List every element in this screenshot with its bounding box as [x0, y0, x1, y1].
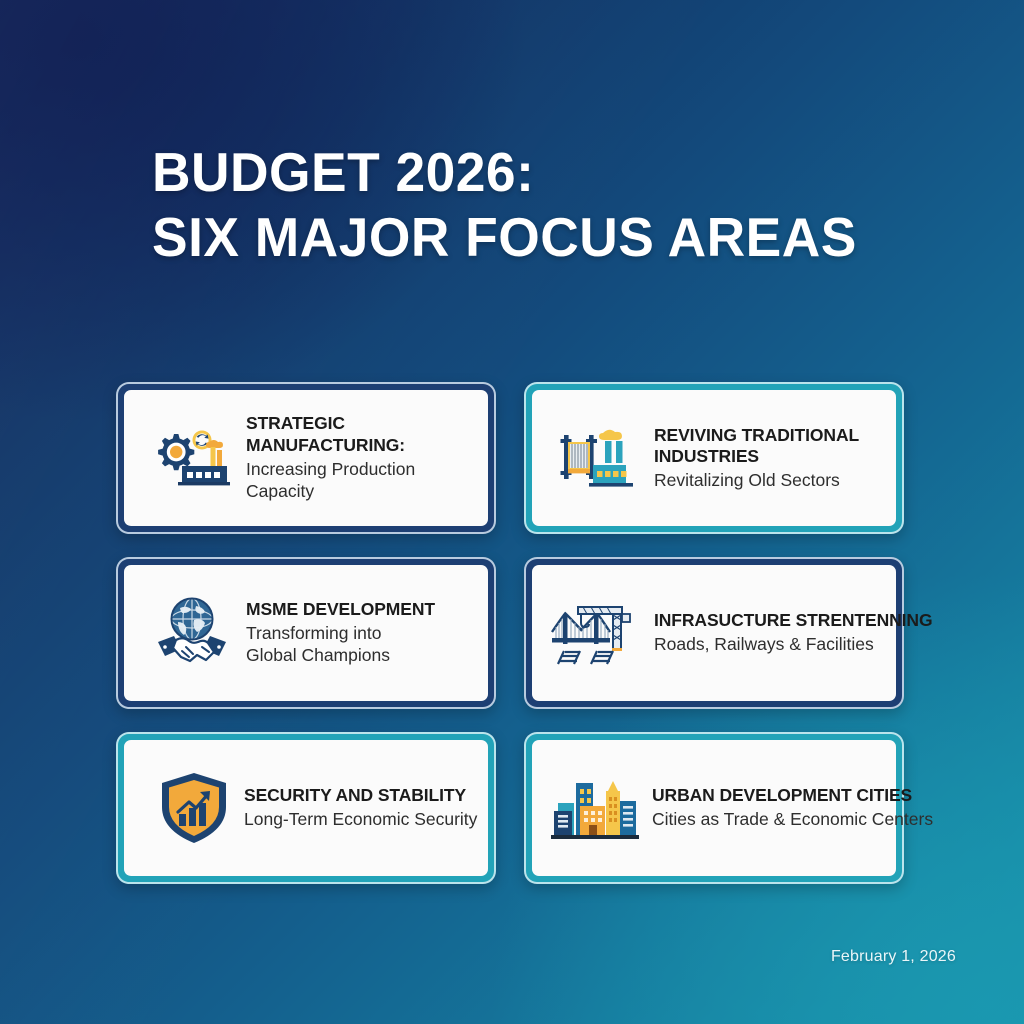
- title-line-2: SIX MAJOR FOCUS AREAS: [152, 205, 909, 270]
- card-subtitle: Revitalizing Old Sectors: [654, 469, 886, 491]
- page-title: BUDGET 2026: SIX MAJOR FOCUS AREAS: [152, 140, 932, 270]
- focus-area-card-grid: STRATEGIC MANUFACTURING: Increasing Prod…: [116, 382, 914, 884]
- card-title: INFRASUCTURE STRENTENNING: [654, 610, 886, 632]
- card-subtitle: Cities as Trade & Economic Centers: [652, 808, 886, 830]
- card-title: URBAN DEVELOPMENT CITIES: [652, 785, 886, 807]
- bridge-crane-rail-icon: [550, 591, 642, 675]
- card-title: SECURITY AND STABILITY: [244, 785, 478, 807]
- focus-card-infrastructure-strengthening[interactable]: INFRASUCTURE STRENTENNING Roads, Railway…: [524, 557, 904, 709]
- globe-handshake-icon: [150, 591, 234, 675]
- focus-card-strategic-manufacturing[interactable]: STRATEGIC MANUFACTURING: Increasing Prod…: [116, 382, 496, 534]
- gear-factory-icon: [150, 416, 234, 500]
- card-subtitle: Transforming into Global Champions: [246, 622, 478, 667]
- card-title: MSME DEVELOPMENT: [246, 599, 478, 621]
- card-subtitle: Long-Term Economic Security: [244, 808, 478, 830]
- card-title: REVIVING TRADITIONAL INDUSTRIES: [654, 425, 886, 468]
- card-subtitle: Increasing Production Capacity: [246, 458, 478, 503]
- loom-factory-icon: [558, 416, 642, 500]
- title-line-1: BUDGET 2026:: [152, 140, 909, 205]
- city-skyline-icon: [550, 766, 640, 850]
- card-subtitle: Roads, Railways & Facilities: [654, 633, 886, 655]
- focus-card-reviving-traditional-industries[interactable]: REVIVING TRADITIONAL INDUSTRIES Revitali…: [524, 382, 904, 534]
- focus-card-urban-development-cities[interactable]: URBAN DEVELOPMENT CITIES Cities as Trade…: [524, 732, 904, 884]
- focus-card-security-and-stability[interactable]: SECURITY AND STABILITY Long-Term Economi…: [116, 732, 496, 884]
- focus-card-msme-development[interactable]: MSME DEVELOPMENT Transforming into Globa…: [116, 557, 496, 709]
- footer-date: February 1, 2026: [831, 948, 956, 966]
- card-title: STRATEGIC MANUFACTURING:: [246, 413, 478, 456]
- shield-growth-chart-icon: [156, 766, 232, 850]
- infographic-poster: BUDGET 2026: SIX MAJOR FOCUS AREAS: [0, 0, 1024, 1024]
